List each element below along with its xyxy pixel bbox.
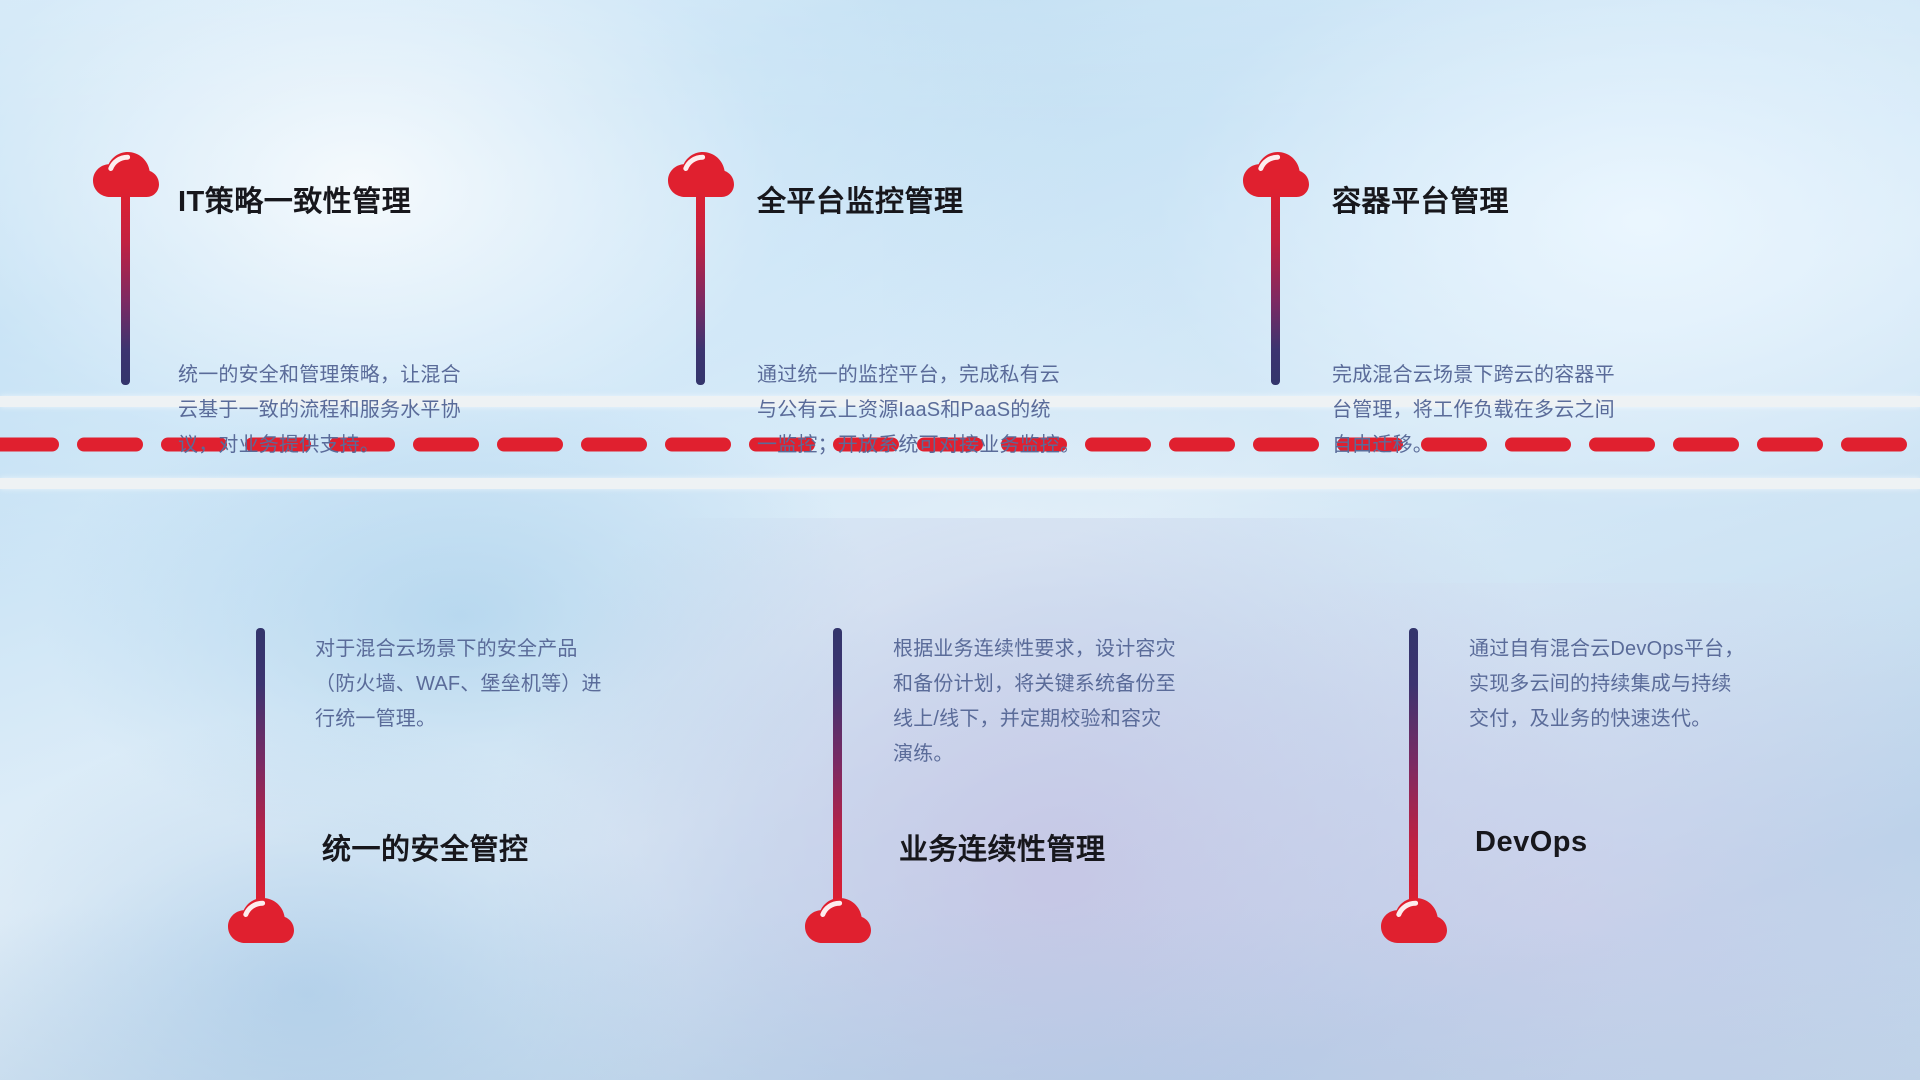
item-heading: 统一的安全管控: [322, 826, 529, 868]
cloud-icon: [805, 898, 871, 944]
item-description: 统一的安全和管理策略，让混合 云基于一致的流程和服务水平协 议，对业务提供支持。: [178, 358, 608, 463]
item-description: 对于混合云场景下的安全产品 （防火墙、WAF、堡垒机等）进 行统一管理。: [315, 632, 745, 737]
item-heading: 业务连续性管理: [899, 826, 1106, 868]
description-line: 议，对业务提供支持。: [178, 428, 608, 463]
description-line: 和备份计划，将关键系统备份至: [893, 667, 1333, 702]
description-line: 演练。: [893, 737, 1333, 772]
item-description: 完成混合云场景下跨云的容器平 台管理，将工作负载在多云之间 自由迁移。: [1332, 358, 1762, 463]
item-heading: DevOps: [1475, 826, 1588, 859]
description-line: 与公有云上资源IaaS和PaaS的统: [757, 393, 1197, 428]
description-line: （防火墙、WAF、堡垒机等）进: [315, 667, 745, 702]
connector-stem: [256, 628, 265, 910]
item-description: 根据业务连续性要求，设计容灾 和备份计划，将关键系统备份至 线上/线下，并定期校…: [893, 632, 1333, 772]
item-description: 通过统一的监控平台，完成私有云 与公有云上资源IaaS和PaaS的统 一监控；开…: [757, 358, 1197, 463]
description-line: 对于混合云场景下的安全产品: [315, 632, 745, 667]
item-description: 通过自有混合云DevOps平台， 实现多云间的持续集成与持续 交付，及业务的快速…: [1469, 632, 1899, 737]
description-line: 完成混合云场景下跨云的容器平: [1332, 358, 1762, 393]
description-line: 台管理，将工作负载在多云之间: [1332, 393, 1762, 428]
connector-stem: [121, 188, 130, 385]
connector-stem: [1271, 188, 1280, 385]
description-line: 云基于一致的流程和服务水平协: [178, 393, 608, 428]
description-line: 统一的安全和管理策略，让混合: [178, 358, 608, 393]
description-line: 交付，及业务的快速迭代。: [1469, 702, 1899, 737]
connector-stem: [696, 188, 705, 385]
description-line: 自由迁移。: [1332, 428, 1762, 463]
description-line: 行统一管理。: [315, 702, 745, 737]
description-line: 通过统一的监控平台，完成私有云: [757, 358, 1197, 393]
item-heading: 全平台监控管理: [757, 178, 964, 220]
description-line: 实现多云间的持续集成与持续: [1469, 667, 1899, 702]
item-heading: IT策略一致性管理: [178, 178, 411, 220]
description-line: 通过自有混合云DevOps平台，: [1469, 632, 1899, 667]
connector-stem: [1409, 628, 1418, 910]
road-edge-bottom: [0, 478, 1920, 489]
cloud-icon: [1381, 898, 1447, 944]
cloud-icon: [228, 898, 294, 944]
description-line: 根据业务连续性要求，设计容灾: [893, 632, 1333, 667]
infographic-canvas: IT策略一致性管理 统一的安全和管理策略，让混合 云基于一致的流程和服务水平协 …: [0, 0, 1920, 1080]
description-line: 线上/线下，并定期校验和容灾: [893, 702, 1333, 737]
connector-stem: [833, 628, 842, 910]
description-line: 一监控；开放系统可对接业务监控。: [757, 428, 1197, 463]
item-heading: 容器平台管理: [1332, 178, 1509, 220]
